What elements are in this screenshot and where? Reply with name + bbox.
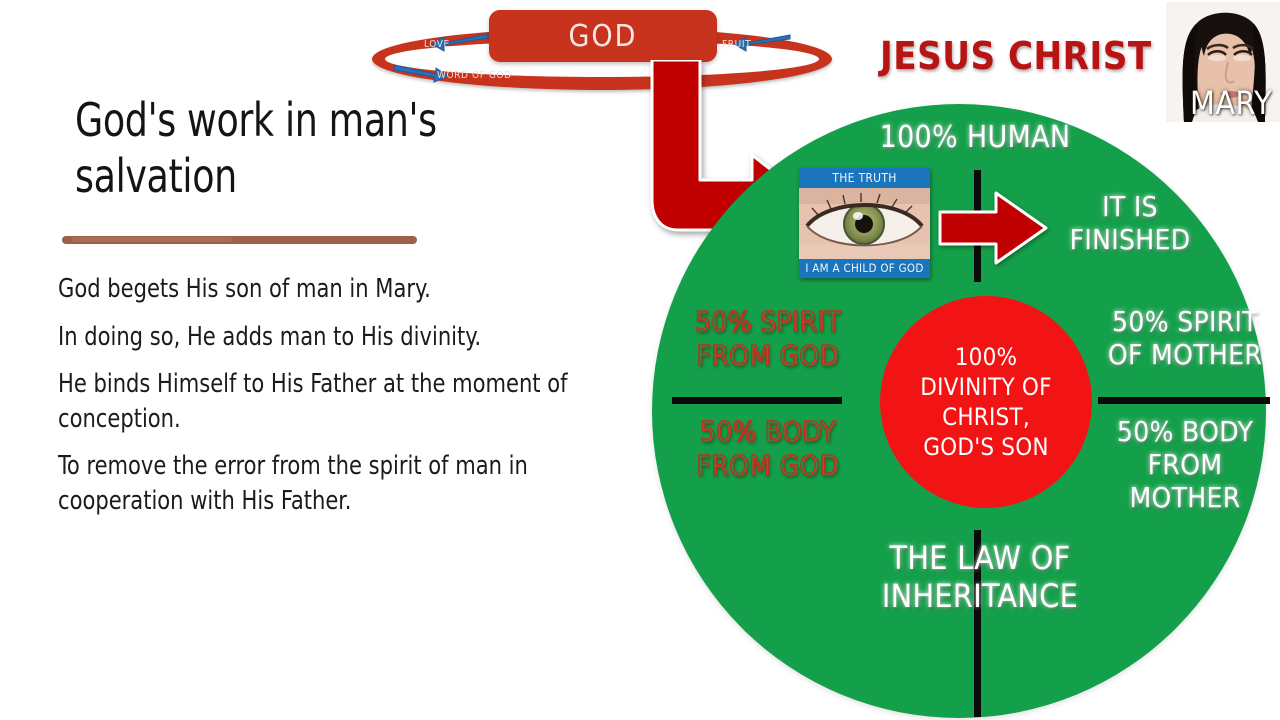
label-50-spirit-of-mother: 50% SPIRIT OF MOTHER	[1090, 305, 1280, 371]
label-line: 50% SPIRIT	[678, 305, 858, 339]
divinity-line: GOD'S SON	[920, 432, 1051, 462]
body-paragraph: To remove the error from the spirit of m…	[58, 449, 598, 518]
divinity-center-label: 100% DIVINITY OF CHRIST, GOD'S SON	[920, 342, 1051, 463]
eye-photo	[799, 188, 930, 259]
label-line: INHERITANCE	[820, 578, 1140, 616]
label-line: FROM GOD	[678, 449, 858, 483]
label-line: FROM GOD	[678, 339, 858, 373]
label-50-spirit-from-god: 50% SPIRIT FROM GOD	[678, 305, 858, 372]
title-underline-rule	[62, 236, 417, 244]
god-banner-box: GOD	[489, 10, 717, 62]
label-50-body-from-mother: 50% BODY FROM MOTHER	[1090, 415, 1280, 514]
label-50-body-from-god: 50% BODY FROM GOD	[678, 415, 858, 482]
divider-right-horizontal	[1098, 397, 1270, 404]
body-paragraph: He binds Himself to His Father at the mo…	[58, 367, 598, 436]
jesus-christ-heading: JESUS CHRIST	[880, 34, 1152, 78]
mary-label: MARY	[1190, 84, 1272, 122]
label-the-law-of-inheritance: THE LAW OF INHERITANCE	[820, 540, 1140, 616]
label-it-is-finished: IT IS FINISHED	[1030, 190, 1230, 256]
divinity-line: 100%	[920, 342, 1051, 372]
divinity-line: DIVINITY OF	[920, 372, 1051, 402]
truth-eye-card: THE TRUTH	[799, 168, 930, 278]
label-100-percent-human: 100% HUMAN	[830, 120, 1120, 155]
divider-left-horizontal	[672, 397, 842, 404]
label-line: 50% BODY	[1090, 415, 1280, 448]
divinity-center-circle: 100% DIVINITY OF CHRIST, GOD'S SON	[880, 296, 1092, 508]
label-line: FROM	[1090, 448, 1280, 481]
label-line: MOTHER	[1090, 481, 1280, 514]
body-paragraph: God begets His son of man in Mary.	[58, 272, 598, 307]
page-title-line-2: salvation	[75, 148, 533, 204]
page-title: God's work in man's salvation	[75, 92, 533, 204]
slide-canvas: God's work in man's salvation God begets…	[0, 0, 1280, 720]
divinity-line: CHRIST,	[920, 402, 1051, 432]
label-line: 50% SPIRIT	[1090, 305, 1280, 338]
label-line: IT IS	[1030, 190, 1230, 223]
label-line: 50% BODY	[678, 415, 858, 449]
label-line: THE LAW OF	[820, 540, 1140, 578]
god-banner-label: GOD	[489, 10, 717, 62]
label-line: OF MOTHER	[1090, 338, 1280, 371]
eye-card-bottom-label: I AM A CHILD OF GOD	[799, 259, 930, 278]
label-line: FINISHED	[1030, 223, 1230, 256]
eye-card-top-label: THE TRUTH	[799, 168, 930, 188]
ring-label-fruit: FRUIT	[722, 39, 751, 50]
page-title-line-1: God's work in man's	[75, 92, 533, 148]
body-text-block: God begets His son of man in Mary. In do…	[58, 272, 598, 531]
ring-label-word-of-god: WORD OF GOD	[437, 70, 512, 81]
body-paragraph: In doing so, He adds man to His divinity…	[58, 320, 598, 355]
ring-label-love: LOVE	[424, 39, 450, 50]
